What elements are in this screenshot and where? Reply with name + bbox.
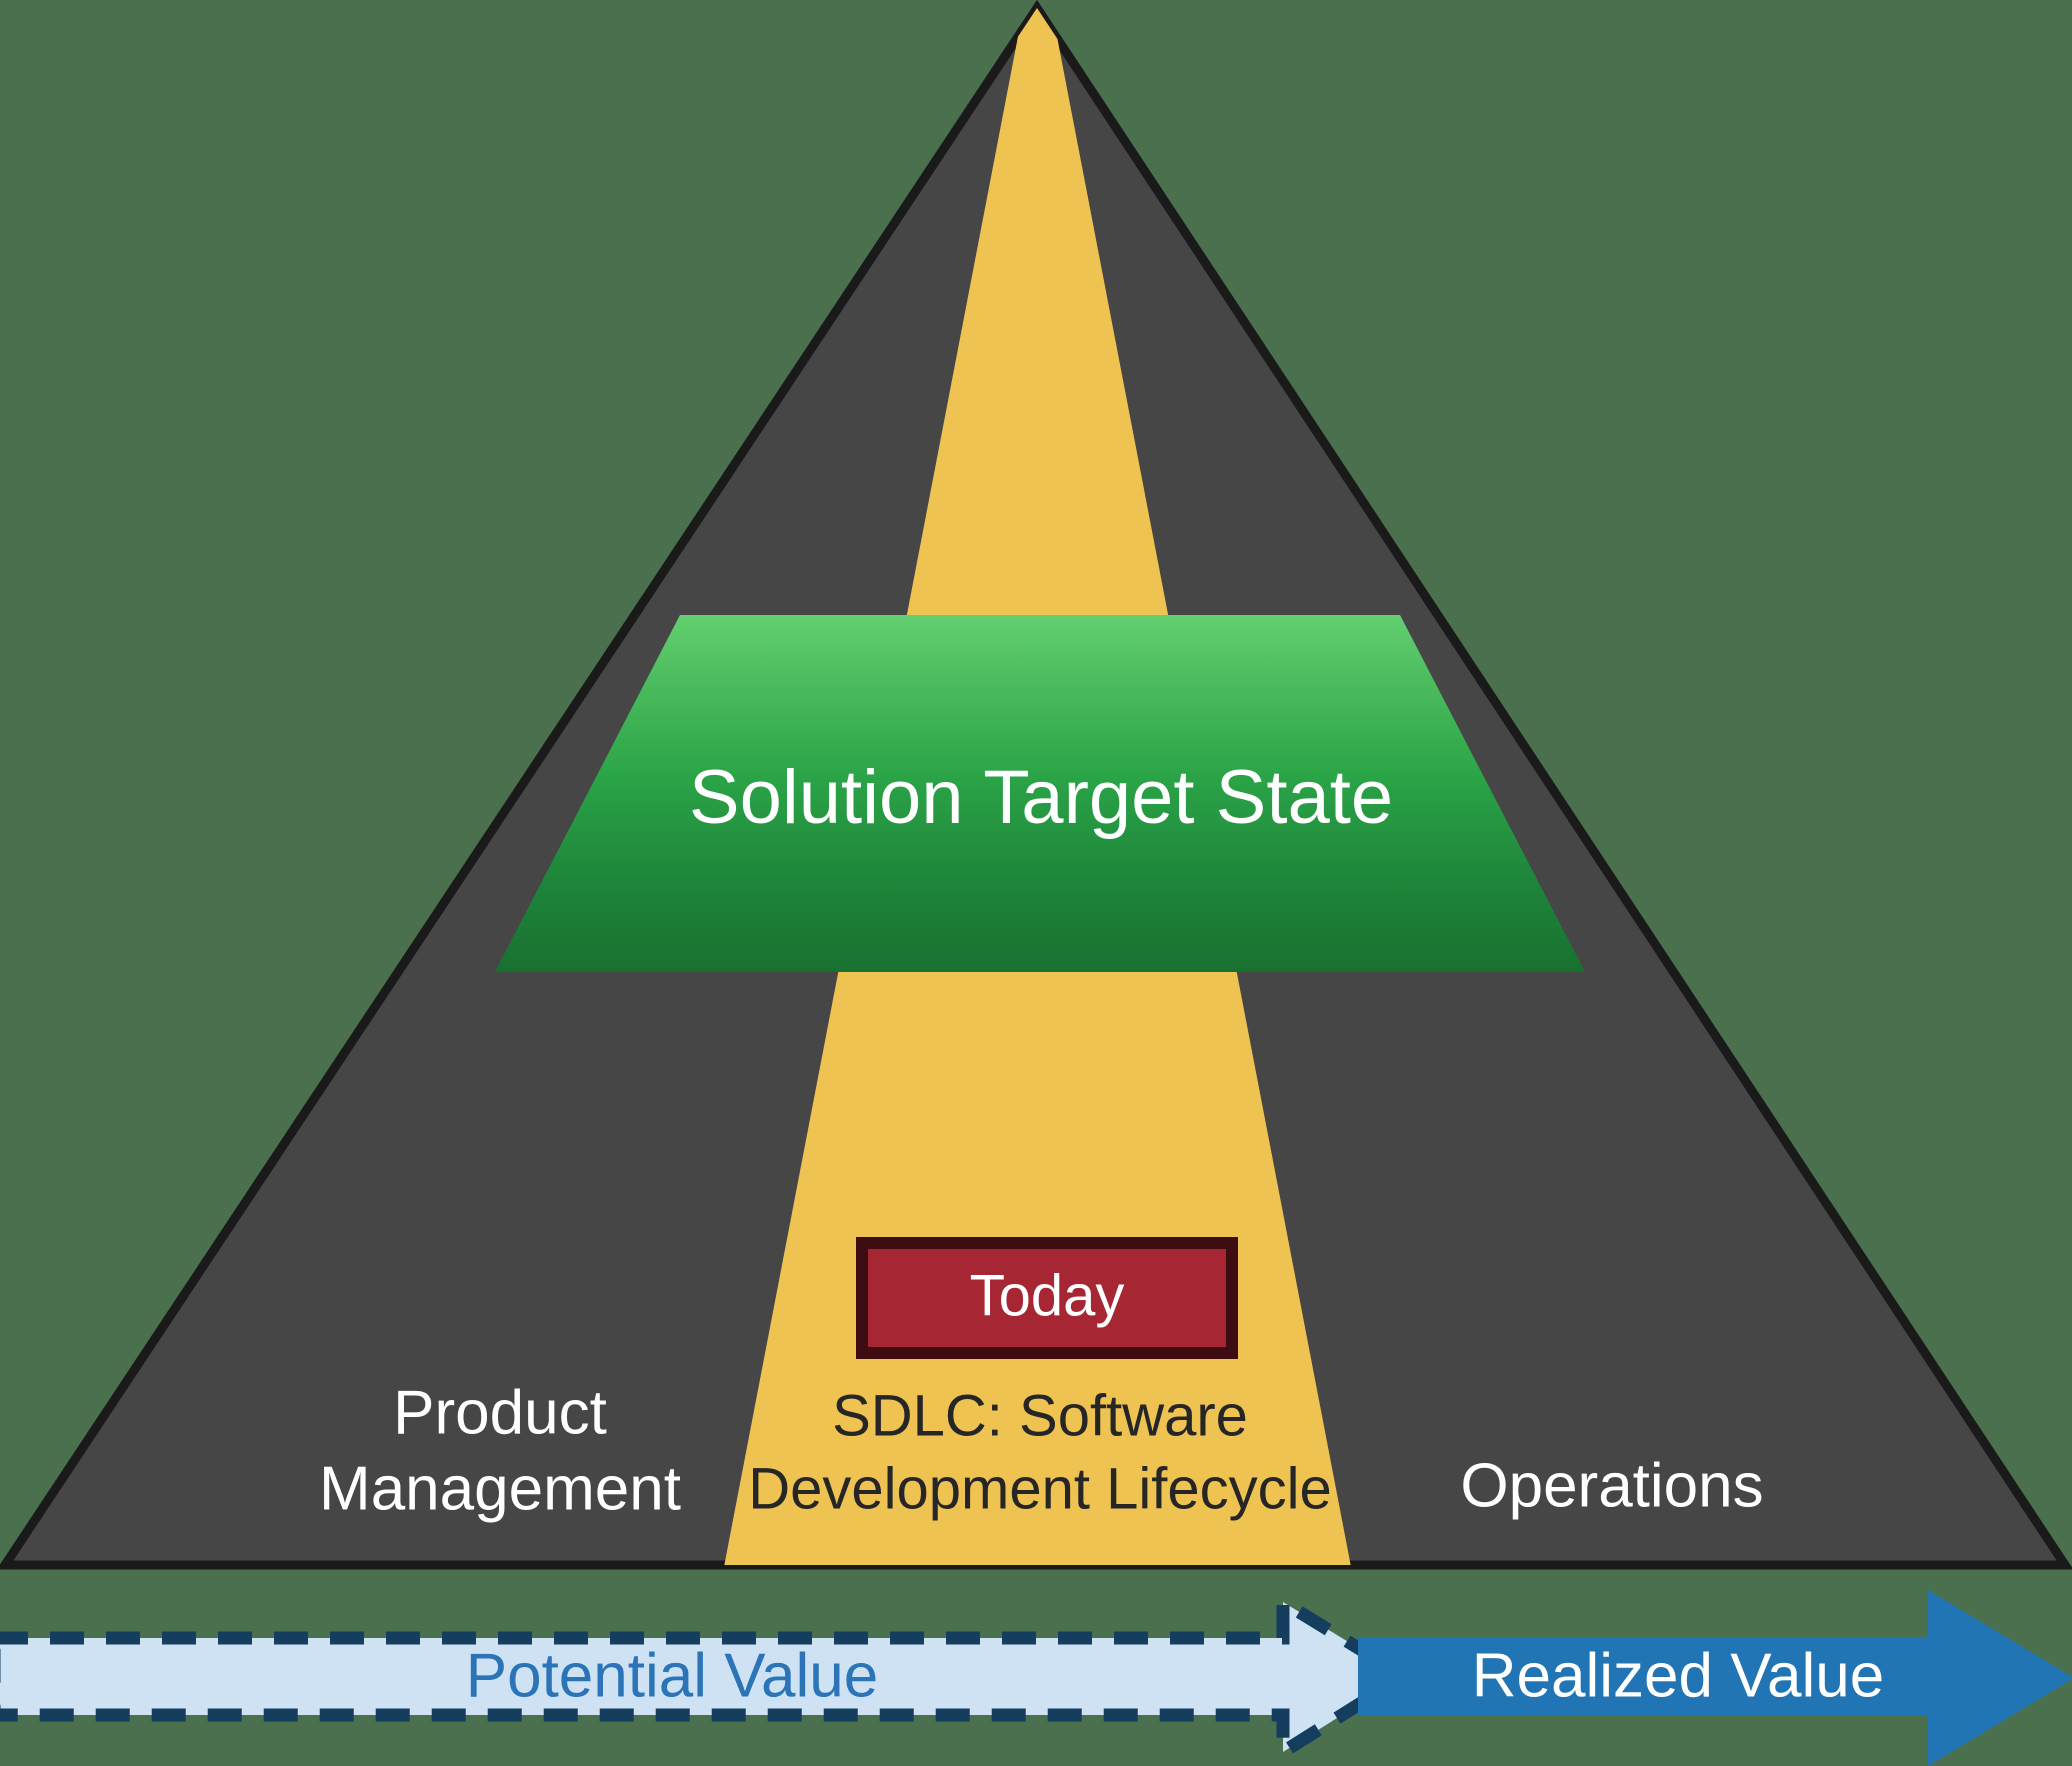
realized-value-label: Realized Value [1472,1641,1884,1710]
operations-label: Operations [1460,1451,1763,1520]
sdlc-label-line1: SDLC: Software [832,1383,1248,1448]
today-marker-label: Today [970,1263,1125,1328]
product-management-label-line2: Management [319,1454,681,1523]
diagram-canvas: Solution Target State Today Product Mana… [0,0,2072,1766]
solution-target-state-label: Solution Target State [689,755,1393,840]
potential-value-label: Potential Value [466,1641,878,1710]
sdlc-label-line2: Development Lifecycle [748,1456,1332,1521]
product-management-label-line1: Product [393,1378,607,1447]
